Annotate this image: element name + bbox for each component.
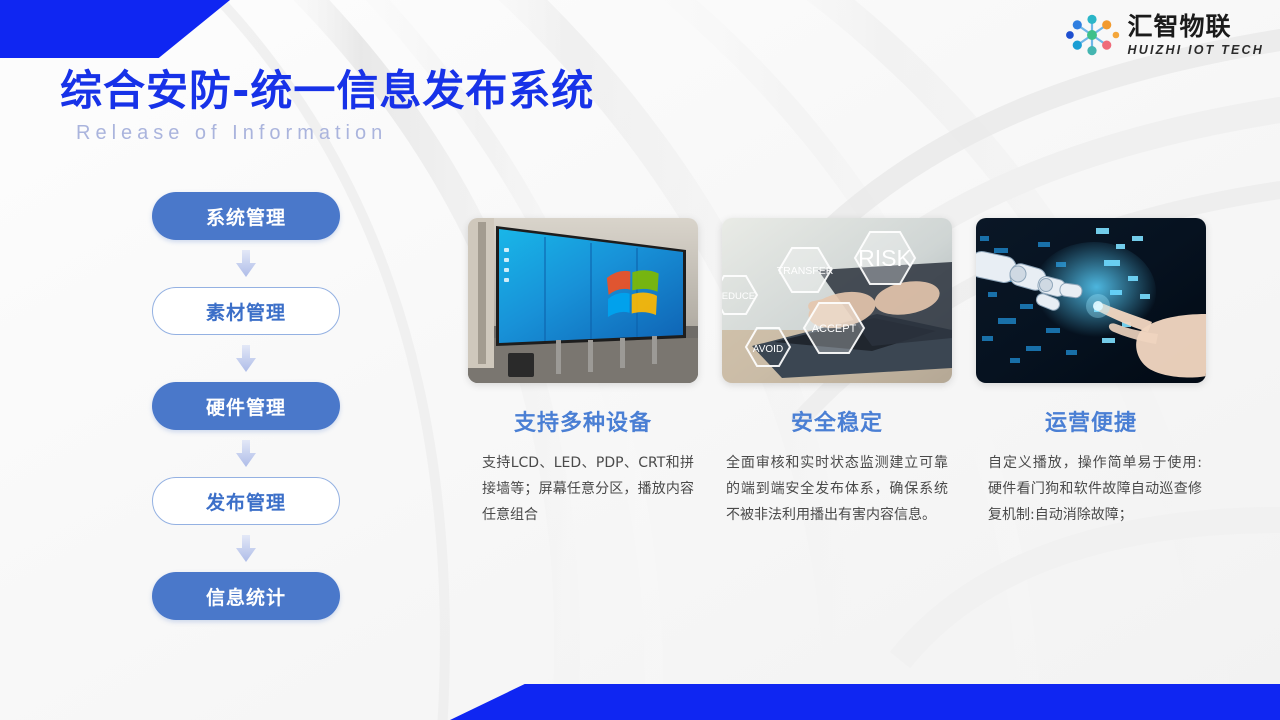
feature-card-title: 支持多种设备 [468,405,698,437]
svg-text:AVOID: AVOID [753,344,783,355]
feature-cards: 支持多种设备 支持LCD、LED、PDP、CRT和拼接墙等；屏幕任意分区，播放内… [468,218,1206,529]
flow-step-label: 信息统计 [206,583,286,610]
logo-name-en: HUIZHI IOT TECH [1128,44,1264,57]
brand-logo: 汇智物联 HUIZHI IOT TECH [1064,12,1264,58]
page-title: 综合安防-统一信息发布系统 [60,68,594,114]
page-title-block: 综合安防-统一信息发布系统 Release of Information [60,68,594,145]
feature-card-security: RISK TRANSFER REDUCE ACCEPT AVOID 安全稳定 全… [722,218,952,529]
flow-step-label: 硬件管理 [206,393,286,420]
molecule-node-icon [1064,12,1120,58]
arrow-down-icon [233,345,259,373]
flow-step-material-management[interactable]: 素材管理 [152,287,340,335]
flow-step-publish-management[interactable]: 发布管理 [152,477,340,525]
slide: 汇智物联 HUIZHI IOT TECH 综合安防-统一信息发布系统 Relea… [0,0,1280,720]
page-subtitle: Release of Information [76,122,594,145]
feature-card-body: 全面审核和实时状态监测建立可靠的端到端安全发布体系，确保系统不被非法利用播出有害… [722,451,952,529]
feature-card-title: 安全稳定 [722,405,952,437]
logo-name-cn: 汇智物联 [1128,14,1232,39]
robot-human-hands-image [976,218,1206,383]
svg-text:ACCEPT: ACCEPT [812,323,857,335]
feature-card-title: 运营便捷 [976,405,1206,437]
feature-card-body: 支持LCD、LED、PDP、CRT和拼接墙等；屏幕任意分区，播放内容任意组合 [468,451,698,529]
flow-step-label: 系统管理 [206,203,286,230]
flow-step-label: 素材管理 [206,298,286,325]
arrow-down-icon [233,440,259,468]
flow-step-hardware-management[interactable]: 硬件管理 [152,382,340,430]
corner-decoration-bottom-right [450,684,1280,720]
arrow-down-icon [233,535,259,563]
svg-text:TRANSFER: TRANSFER [777,265,834,277]
feature-card-operations: 运营便捷 自定义播放，操作简单易于使用:硬件看门狗和软件故障自动巡查修复机制:自… [976,218,1206,529]
svg-text:RISK: RISK [858,245,912,271]
arrow-down-icon [233,250,259,278]
corner-decoration-top-left [0,0,230,58]
feature-card-body: 自定义播放，操作简单易于使用:硬件看门狗和软件故障自动巡查修复机制:自动消除故障… [976,451,1206,529]
svg-text:REDUCE: REDUCE [722,291,755,302]
video-wall-image [468,218,698,383]
flow-step-label: 发布管理 [206,488,286,515]
flow-step-system-management[interactable]: 系统管理 [152,192,340,240]
flow-step-information-statistics[interactable]: 信息统计 [152,572,340,620]
workflow-steps: 系统管理 素材管理 硬件管理 发布管理 信息统计 [152,192,340,620]
risk-hexagons-image: RISK TRANSFER REDUCE ACCEPT AVOID [722,218,952,383]
feature-card-devices: 支持多种设备 支持LCD、LED、PDP、CRT和拼接墙等；屏幕任意分区，播放内… [468,218,698,529]
